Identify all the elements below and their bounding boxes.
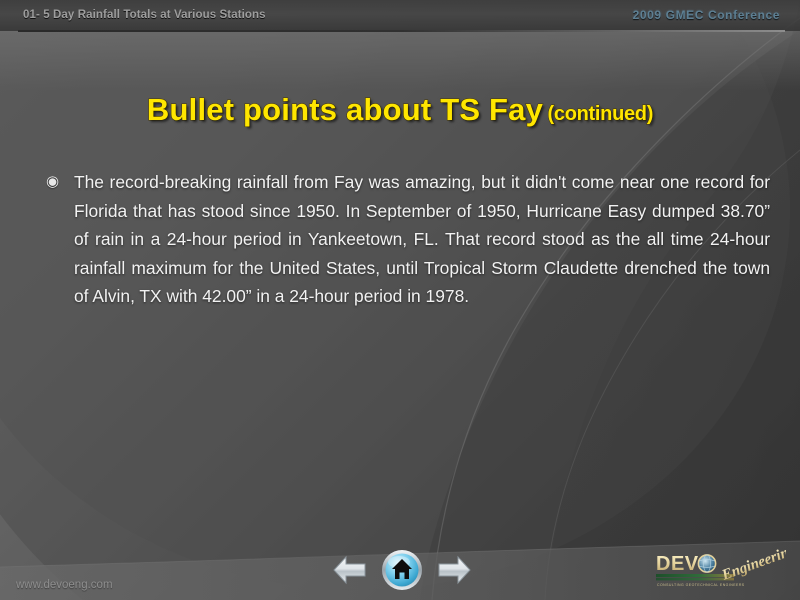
- left-arrow-icon: [332, 554, 368, 586]
- svg-text:CONSULTING GEOTECHNICAL ENGINE: CONSULTING GEOTECHNICAL ENGINEERS: [657, 583, 745, 587]
- page-title: Bullet points about TS Fay (continued): [0, 92, 800, 128]
- page-title-continued: (continued): [548, 103, 654, 125]
- footer-website-url: www.devoeng.com: [16, 579, 113, 591]
- home-button[interactable]: [381, 549, 423, 591]
- right-arrow-icon: [436, 554, 472, 586]
- home-icon: [381, 549, 423, 591]
- svg-text:DEV: DEV: [656, 553, 699, 575]
- slide-header: 01- 5 Day Rainfall Totals at Various Sta…: [0, 0, 800, 34]
- svg-text:Engineering: Engineering: [719, 546, 786, 584]
- company-logo: DEV CONSULTING GEOTECHNICAL ENGINEERS En…: [646, 546, 786, 594]
- devo-engineering-logo-icon: DEV CONSULTING GEOTECHNICAL ENGINEERS En…: [646, 546, 786, 594]
- bullet-item-text: The record-breaking rainfall from Fay wa…: [74, 168, 770, 311]
- header-slide-title: 01- 5 Day Rainfall Totals at Various Sta…: [23, 9, 266, 21]
- header-divider: [18, 30, 785, 32]
- slide: 01- 5 Day Rainfall Totals at Various Sta…: [0, 0, 800, 600]
- header-conference-label: 2009 GMEC Conference: [633, 8, 780, 22]
- previous-slide-button[interactable]: [332, 554, 368, 586]
- page-title-main: Bullet points about TS Fay: [147, 92, 543, 127]
- navigation-controls: [332, 548, 472, 592]
- bullet-point-icon: ◉: [40, 168, 74, 197]
- next-slide-button[interactable]: [436, 554, 472, 586]
- bullet-list: ◉ The record-breaking rainfall from Fay …: [40, 168, 770, 311]
